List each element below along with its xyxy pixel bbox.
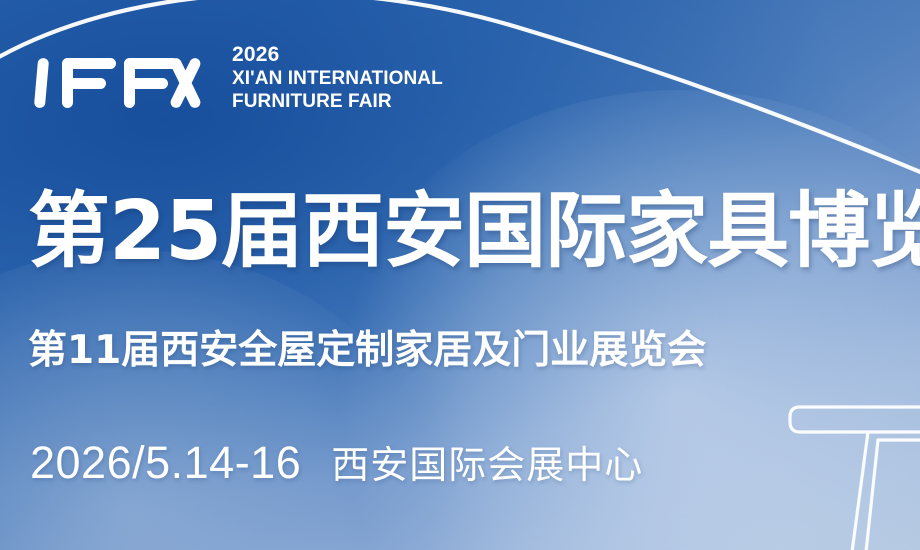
- logo-line-1: XI'AN INTERNATIONAL: [232, 67, 443, 90]
- light-bloom-left: [0, 250, 440, 550]
- table-outline-icon: [790, 407, 920, 550]
- logo-wordmark-text: 2026 XI'AN INTERNATIONAL FURNITURE FAIR: [232, 42, 443, 113]
- sub-headline: 第11届西安全屋定制家居及门业展览会: [28, 331, 706, 370]
- logo-block: 2026 XI'AN INTERNATIONAL FURNITURE FAIR: [28, 42, 443, 114]
- event-info-line: 2026/5.14-16 西安国际会展中心: [30, 440, 643, 485]
- iffx-wordmark-icon: [28, 42, 218, 114]
- event-date: 2026/5.14-16: [30, 440, 301, 485]
- event-venue: 西安国际会展中心: [331, 446, 643, 484]
- logo-line-2: FURNITURE FAIR: [232, 90, 443, 113]
- logo-year: 2026: [232, 44, 443, 67]
- main-headline: 第25届西安国际家具博览会: [28, 191, 920, 273]
- poster-canvas: 2026 XI'AN INTERNATIONAL FURNITURE FAIR …: [0, 0, 920, 550]
